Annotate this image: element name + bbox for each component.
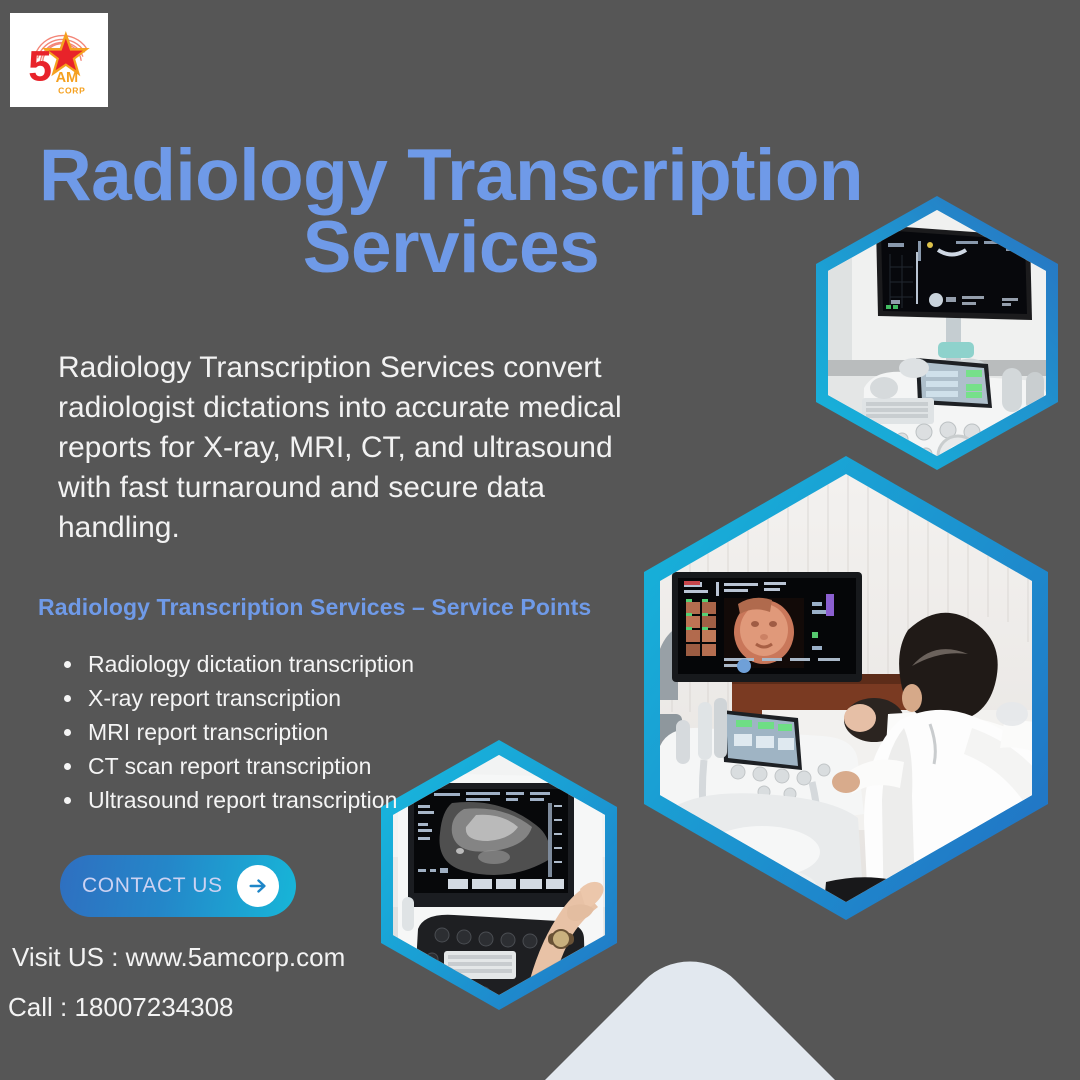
bullet-dot-icon [64,729,71,736]
bullet-dot-icon [64,763,71,770]
svg-text:AM: AM [56,70,79,86]
arrow-right-icon [237,865,279,907]
bullet-dot-icon [64,695,71,702]
website-text[interactable]: Visit US : www.5amcorp.com [12,942,345,973]
bullet-dot-icon [64,661,71,668]
list-item: MRI report transcription [60,718,580,747]
list-item: X-ray report transcription [60,684,580,713]
list-item: Radiology dictation transcription [60,650,580,679]
list-item-label: MRI report transcription [88,719,328,745]
list-item: CT scan report transcription [60,752,580,781]
list-item-label: Ultrasound report transcription [88,787,397,813]
list-item-label: CT scan report transcription [88,753,371,779]
contact-us-button[interactable]: CONTACT US [60,855,296,917]
contact-us-label: CONTACT US [82,874,223,898]
svg-text:CORP: CORP [58,85,85,95]
phone-text[interactable]: Call : 18007234308 [8,992,234,1023]
hex-photo-sonographer-exam [612,452,1080,952]
intro-paragraph: Radiology Transcription Services convert… [58,348,638,547]
list-item-label: X-ray report transcription [88,685,341,711]
list-item: Ultrasound report transcription [60,786,580,815]
list-item-label: Radiology dictation transcription [88,651,414,677]
logo-card[interactable]: 5 AM CORP [10,13,108,107]
service-points-heading: Radiology Transcription Services – Servi… [38,594,658,621]
page-title: Radiology Transcription Services [36,140,866,283]
5am-corp-logo: 5 AM CORP [16,19,102,101]
svg-text:5: 5 [28,43,52,91]
bullet-dot-icon [64,797,71,804]
service-points-list: Radiology dictation transcription X-ray … [60,650,580,820]
poster-canvas: 5 AM CORP Radiology Transcription Servic… [0,0,1080,1080]
